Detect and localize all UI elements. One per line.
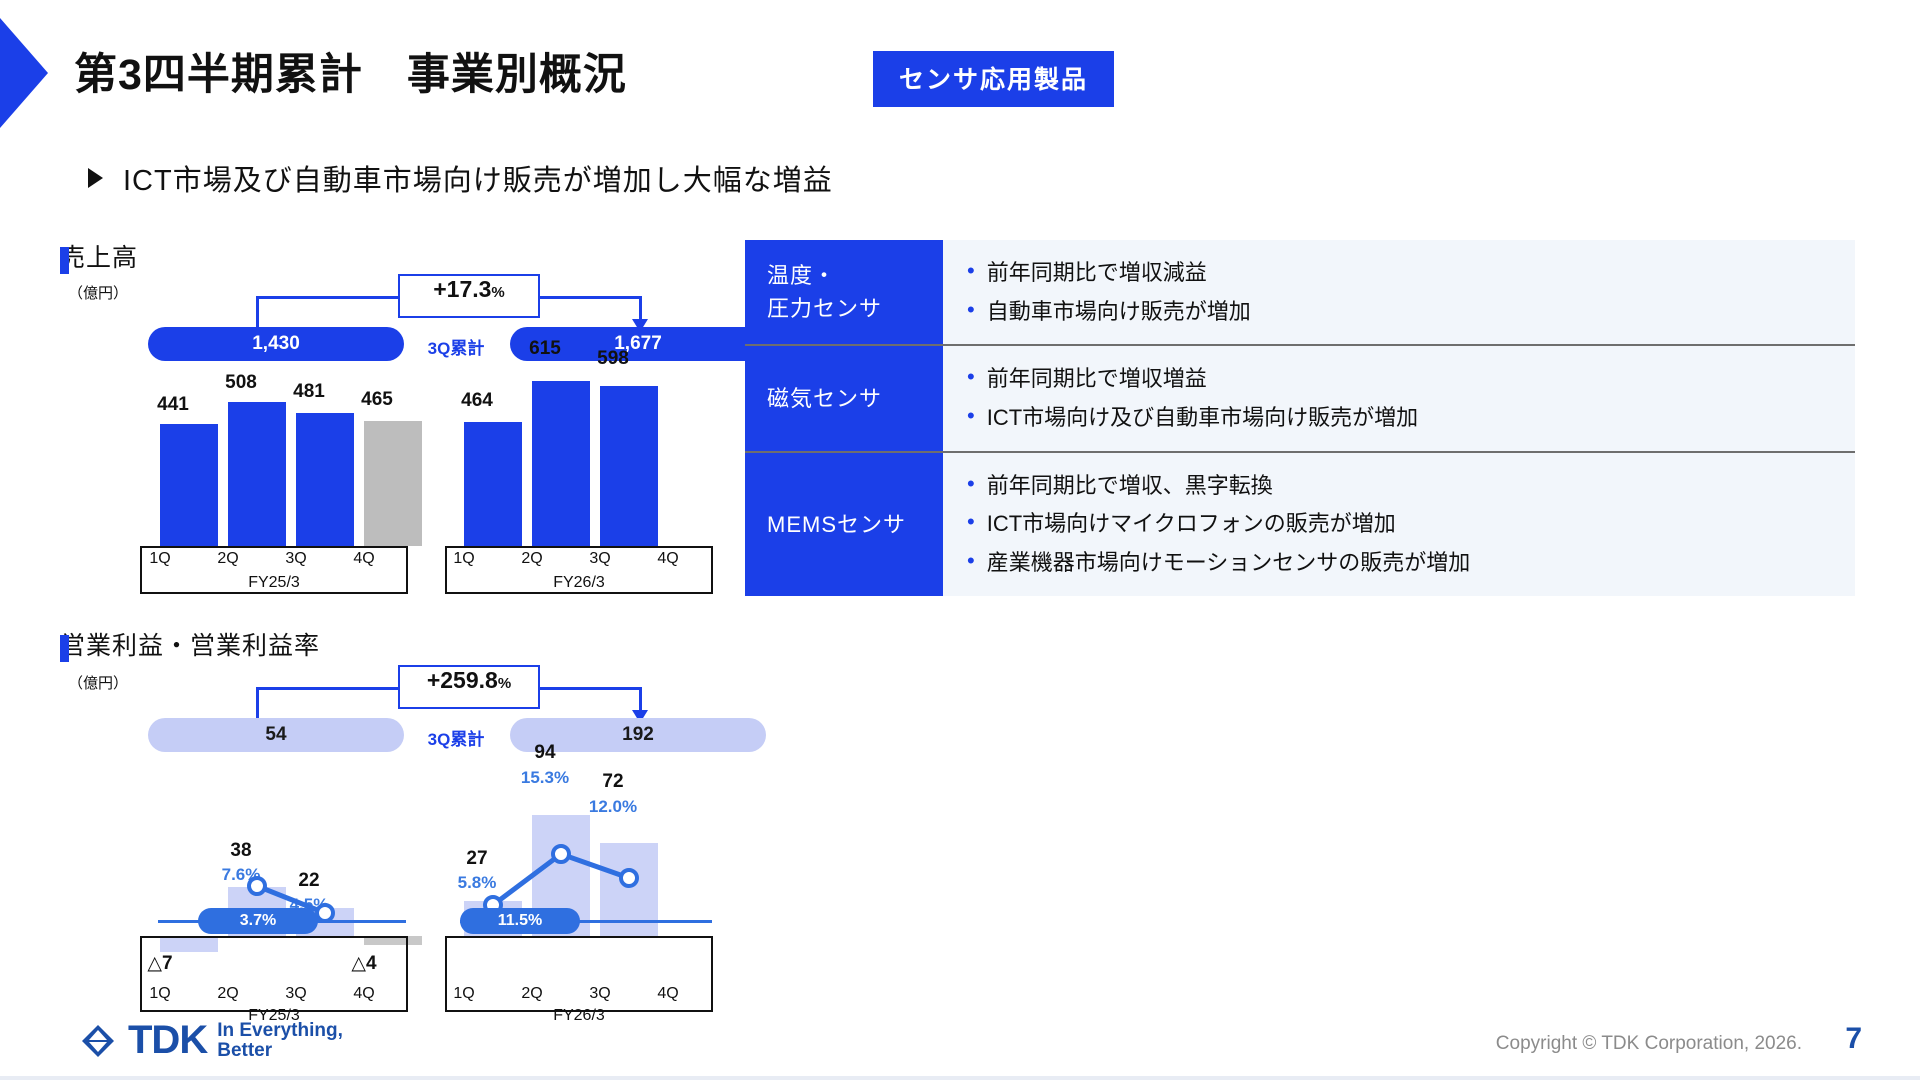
profit-change-value: +259.8 [427,667,498,694]
profit-tick-fy26-2q: 2Q [502,985,562,1003]
bullet-dot-icon: • [967,258,975,284]
bar-sales-1 [228,402,286,546]
segment-summary-table: 温度・ 圧力センサ •前年同期比で増収減益 •自動車市場向け販売が増加 磁気セン… [745,240,1855,596]
sales-change-box: +17.3% [398,274,540,318]
list-item: •産業機器市場向けモーションセンサの販売が増加 [967,548,1831,578]
tdk-logo: TDK In Everything, Better [78,1018,343,1063]
unit-label-profit: （億円） [68,672,128,693]
bullet-text: 前年同期比で増収増益 [987,364,1207,394]
sales-change-suffix: % [491,284,504,301]
bullet-dot-icon: • [967,548,975,574]
table-row-body-1: •前年同期比で増収増益 •ICT市場向け及び自動車市場向け販売が増加 [943,346,1855,450]
bar-label-sales-4: 464 [438,390,516,412]
headline-text: ICT市場及び自動車市場向け販売が増加し大幅な増益 [123,157,833,199]
sales-axis-fy26-top [445,546,713,548]
bar-label-sales-2: 481 [270,381,348,403]
bar-label-sales-6: 598 [574,348,652,370]
sales-tick-fy26-4q: 4Q [638,550,698,568]
copyright-text: Copyright © TDK Corporation, 2026. [1496,1033,1802,1055]
triangle-bullet-icon [88,168,103,188]
section-heading-profit-label: 営業利益・営業利益率 [60,626,320,662]
sales-tick-fy25-1q: 1Q [130,550,190,568]
category-line-1: 磁気センサ [767,382,882,415]
unit-label-sales: （億円） [68,282,128,303]
bar-label-sales-1: 508 [202,372,280,394]
page-title: 第3四半期累計 事業別概況 [74,40,627,102]
bar-sales-5 [532,381,590,546]
profit-tick-fy25-4q: 4Q [334,985,394,1003]
section-heading-sales: 売上高 [60,238,138,274]
profit-axis-fy25-top [140,936,408,938]
profit-tick-fy26-4q: 4Q [638,985,698,1003]
bar-label-sales-0: 441 [134,394,212,416]
list-item: •前年同期比で増収減益 [967,258,1831,288]
bullet-dot-icon: • [967,403,975,429]
sales-cumulative-prev: 1,430 [148,327,404,361]
table-row-body-0: •前年同期比で増収減益 •自動車市場向け販売が増加 [943,240,1855,344]
sales-connector-right-v [639,296,642,321]
sales-connector-left-h [256,296,400,299]
section-marker [60,247,69,274]
profit-tick-fy25-2q: 2Q [198,985,258,1003]
tdk-wordmark: TDK [128,1018,207,1063]
bullet-text: 前年同期比で増収、黒字転換 [987,471,1273,501]
profit-cumulative-prev: 54 [148,718,404,752]
profit-connector-right-v [639,687,642,712]
profit-change-suffix: % [498,675,511,692]
profit-connector-right-h [538,687,642,690]
sales-cumulative-label: 3Q累計 [410,334,502,359]
bar-label-sales-5: 615 [506,338,584,360]
list-item: •前年同期比で増収増益 [967,364,1831,394]
sales-connector-right-h [538,296,642,299]
bar-label-profit-3: △4 [334,952,394,975]
page-number: 7 [1845,1022,1862,1056]
segment-badge: センサ応用製品 [873,51,1114,107]
sales-tick-fy26-1q: 1Q [434,550,494,568]
sales-fy-label-prev: FY25/3 [214,574,334,592]
sales-tick-fy25-2q: 2Q [198,550,258,568]
category-line-1: MEMSセンサ [767,508,906,541]
profit-cumulative-label: 3Q累計 [410,725,502,750]
list-item: •自動車市場向け販売が増加 [967,297,1831,327]
bullet-text: 自動車市場向け販売が増加 [987,297,1251,327]
section-heading-sales-label: 売上高 [60,238,138,274]
profit-tick-fy25-1q: 1Q [130,985,190,1003]
sales-axis-fy25-top [140,546,408,548]
sales-tick-fy26-3q: 3Q [570,550,630,568]
profit-tick-fy26-1q: 1Q [434,985,494,1003]
list-item: •前年同期比で増収、黒字転換 [967,471,1831,501]
profit-tick-fy25-3q: 3Q [266,985,326,1003]
bar-sales-2 [296,413,354,546]
bullet-text: ICT市場向けマイクロフォンの販売が増加 [987,509,1396,539]
tdk-diamond-icon [78,1021,118,1061]
profit-change-box: +259.8% [398,665,540,709]
list-item: •ICT市場向け及び自動車市場向け販売が増加 [967,403,1831,433]
bar-label-profit-5: 94 [506,742,584,764]
bullet-dot-icon: • [967,297,975,323]
bar-sales-0 [160,424,218,546]
sales-connector-left-v [256,296,259,328]
slide: 第3四半期累計 事業別概況 センサ応用製品 ICT市場及び自動車市場向け販売が増… [0,0,1920,1080]
category-line-1: 温度・ [767,263,836,288]
bullet-text: 産業機器市場向けモーションセンサの販売が増加 [987,548,1471,578]
sales-bar-chart: 441 508 481 465 464 615 598 [140,380,840,546]
profit-rate-pill-fy26: 11.5% [460,908,580,934]
bullet-dot-icon: • [967,364,975,390]
bar-label-sales-3: 465 [338,389,416,411]
bar-sales-3 [364,421,422,546]
corner-arrow-decoration [0,18,48,128]
list-item: •ICT市場向けマイクロフォンの販売が増加 [967,509,1831,539]
bar-sales-4 [464,422,522,546]
sales-tick-fy25-3q: 3Q [266,550,326,568]
table-row-category-1: 磁気センサ [745,346,943,450]
bar-sales-6 [600,386,658,546]
bullet-text: 前年同期比で増収減益 [987,258,1207,288]
tdk-tagline: In Everything, Better [217,1021,343,1061]
sales-tick-fy26-2q: 2Q [502,550,562,568]
profit-connector-left-v [256,687,259,719]
tagline-line-1: In Everything, [217,1020,343,1041]
sales-change-value: +17.3 [433,276,491,303]
table-row: MEMSセンサ •前年同期比で増収、黒字転換 •ICT市場向けマイクロフォンの販… [745,451,1855,596]
table-row: 磁気センサ •前年同期比で増収増益 •ICT市場向け及び自動車市場向け販売が増加 [745,344,1855,450]
profit-connector-left-h [256,687,400,690]
table-row: 温度・ 圧力センサ •前年同期比で増収減益 •自動車市場向け販売が増加 [745,240,1855,344]
sales-tick-fy25-4q: 4Q [334,550,394,568]
sales-fy-label-curr: FY26/3 [519,574,639,592]
bar-label-profit-0: △7 [130,952,190,975]
table-row-category-2: MEMSセンサ [745,453,943,596]
profit-rate-pill-fy25: 3.7% [198,908,318,934]
profit-axis-fy26-top [445,936,713,938]
table-row-category-0: 温度・ 圧力センサ [745,240,943,344]
table-row-body-2: •前年同期比で増収、黒字転換 •ICT市場向けマイクロフォンの販売が増加 •産業… [943,453,1855,596]
profit-tick-fy26-3q: 3Q [570,985,630,1003]
headline: ICT市場及び自動車市場向け販売が増加し大幅な増益 [88,157,833,199]
section-heading-profit: 営業利益・営業利益率 [60,626,320,662]
profit-fy-label-curr: FY26/3 [519,1007,639,1025]
footer-divider [0,1076,1920,1080]
tagline-line-2: Better [217,1040,272,1061]
section-marker [60,635,69,662]
bullet-dot-icon: • [967,471,975,497]
bullet-text: ICT市場向け及び自動車市場向け販売が増加 [987,403,1418,433]
category-line-2: 圧力センサ [767,296,882,321]
bullet-dot-icon: • [967,509,975,535]
